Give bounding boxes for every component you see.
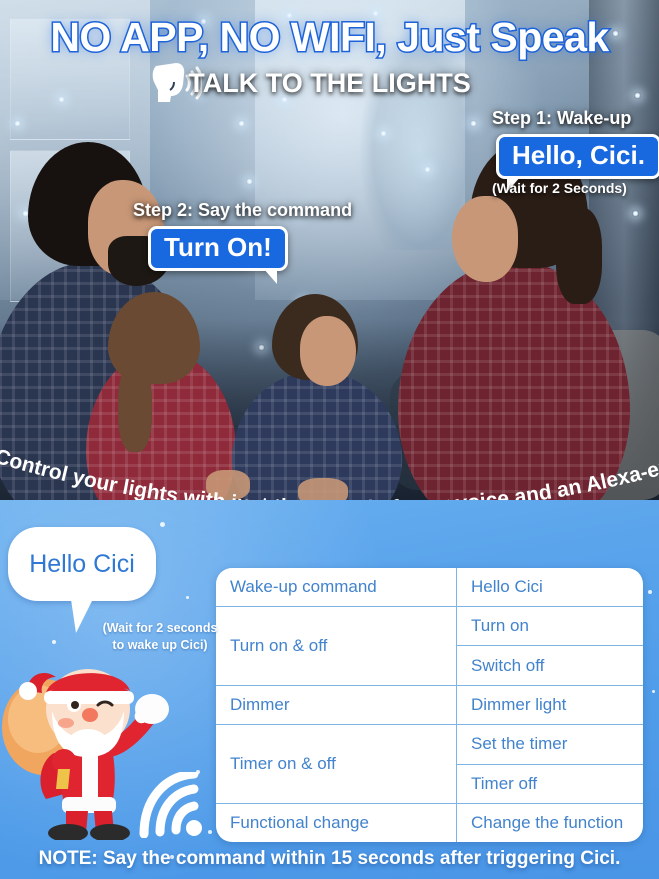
command-category-cell: Turn on & off bbox=[216, 606, 457, 685]
command-phrase-cell: Hello Cici bbox=[457, 568, 644, 606]
table-row: Functional changeChange the function bbox=[216, 804, 643, 843]
command-category-cell: Timer on & off bbox=[216, 725, 457, 804]
command-category-cell: Dimmer bbox=[216, 685, 457, 724]
table-row: DimmerDimmer light bbox=[216, 685, 643, 724]
table-row: Wake-up commandHello Cici bbox=[216, 568, 643, 606]
step-1-bubble-text: Hello, Cici. bbox=[499, 137, 658, 176]
hello-cici-bubble: Hello Cici bbox=[8, 527, 156, 601]
command-category-cell: Functional change bbox=[216, 804, 457, 843]
step-1-label: Step 1: Wake-up bbox=[492, 108, 631, 129]
bubble-tail bbox=[263, 268, 277, 284]
wifi-sound-wave-icon bbox=[132, 772, 204, 838]
command-phrase-cell: Timer off bbox=[457, 764, 644, 803]
poster: NO APP, NO WIFI, Just Speak TALK TO THE … bbox=[0, 0, 659, 879]
step-2-label: Step 2: Say the command bbox=[133, 200, 352, 221]
boy-face bbox=[300, 316, 356, 386]
command-phrase-cell: Change the function bbox=[457, 804, 644, 843]
page-title: NO APP, NO WIFI, Just Speak bbox=[0, 14, 659, 61]
command-phrase-cell: Dimmer light bbox=[457, 685, 644, 724]
command-table-grid: Wake-up commandHello CiciTurn on & offTu… bbox=[216, 568, 643, 842]
step-1-bubble: Hello, Cici. bbox=[496, 134, 659, 179]
wait-note-line-2: to wake up Cici) bbox=[112, 638, 207, 652]
step-2-bubble: Turn On! bbox=[148, 226, 288, 271]
table-row: Timer on & offSet the timer bbox=[216, 725, 643, 764]
command-category-cell: Wake-up command bbox=[216, 568, 457, 606]
step-1-hint: (Wait for 2 Seconds) bbox=[492, 180, 627, 196]
mother-ponytail bbox=[556, 208, 602, 304]
wait-note-line-1: (Wait for 2 seconds bbox=[103, 621, 218, 635]
command-table: Wake-up commandHello CiciTurn on & offTu… bbox=[216, 568, 643, 842]
table-row: Turn on & offTurn on bbox=[216, 606, 643, 645]
wait-note: (Wait for 2 seconds to wake up Cici) bbox=[88, 620, 232, 654]
hello-cici-bubble-text: Hello Cici bbox=[8, 527, 156, 601]
mother-face bbox=[452, 196, 518, 282]
command-phrase-cell: Switch off bbox=[457, 646, 644, 685]
command-phrase-cell: Set the timer bbox=[457, 725, 644, 764]
page-subtitle: TALK TO THE LIGHTS bbox=[0, 68, 659, 99]
girl-hair bbox=[108, 292, 200, 384]
command-phrase-cell: Turn on bbox=[457, 606, 644, 645]
step-2-bubble-text: Turn On! bbox=[151, 229, 285, 268]
note-text: NOTE: Say the command within 15 seconds … bbox=[0, 848, 659, 870]
girl-braid bbox=[118, 364, 152, 452]
